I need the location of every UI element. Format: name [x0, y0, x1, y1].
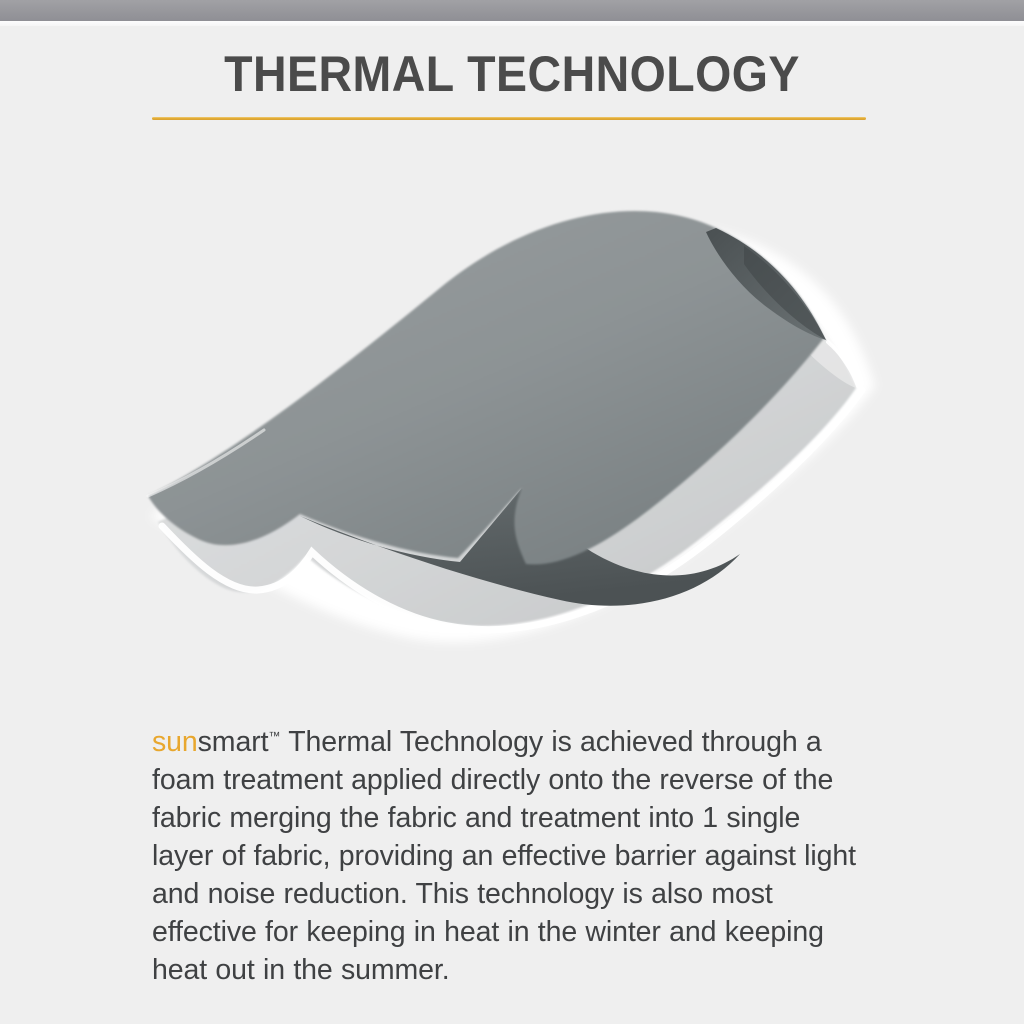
fabric-layers-illustration [140, 186, 890, 666]
page-root: THERMAL TECHNOLOGY [0, 0, 1024, 1024]
brand-smart-text: smart [198, 726, 269, 758]
top-band-underline [0, 21, 1024, 26]
brand-sun-text: sun [152, 726, 198, 758]
gold-divider [152, 117, 866, 120]
trademark-symbol: ™ [268, 729, 280, 743]
top-gray-band [0, 0, 1024, 21]
body-paragraph-text: Thermal Technology is achieved through a… [152, 726, 856, 986]
title-container: THERMAL TECHNOLOGY [0, 46, 1024, 102]
body-paragraph: sunsmart™ Thermal Technology is achieved… [152, 717, 868, 989]
page-title: THERMAL TECHNOLOGY [36, 46, 988, 102]
